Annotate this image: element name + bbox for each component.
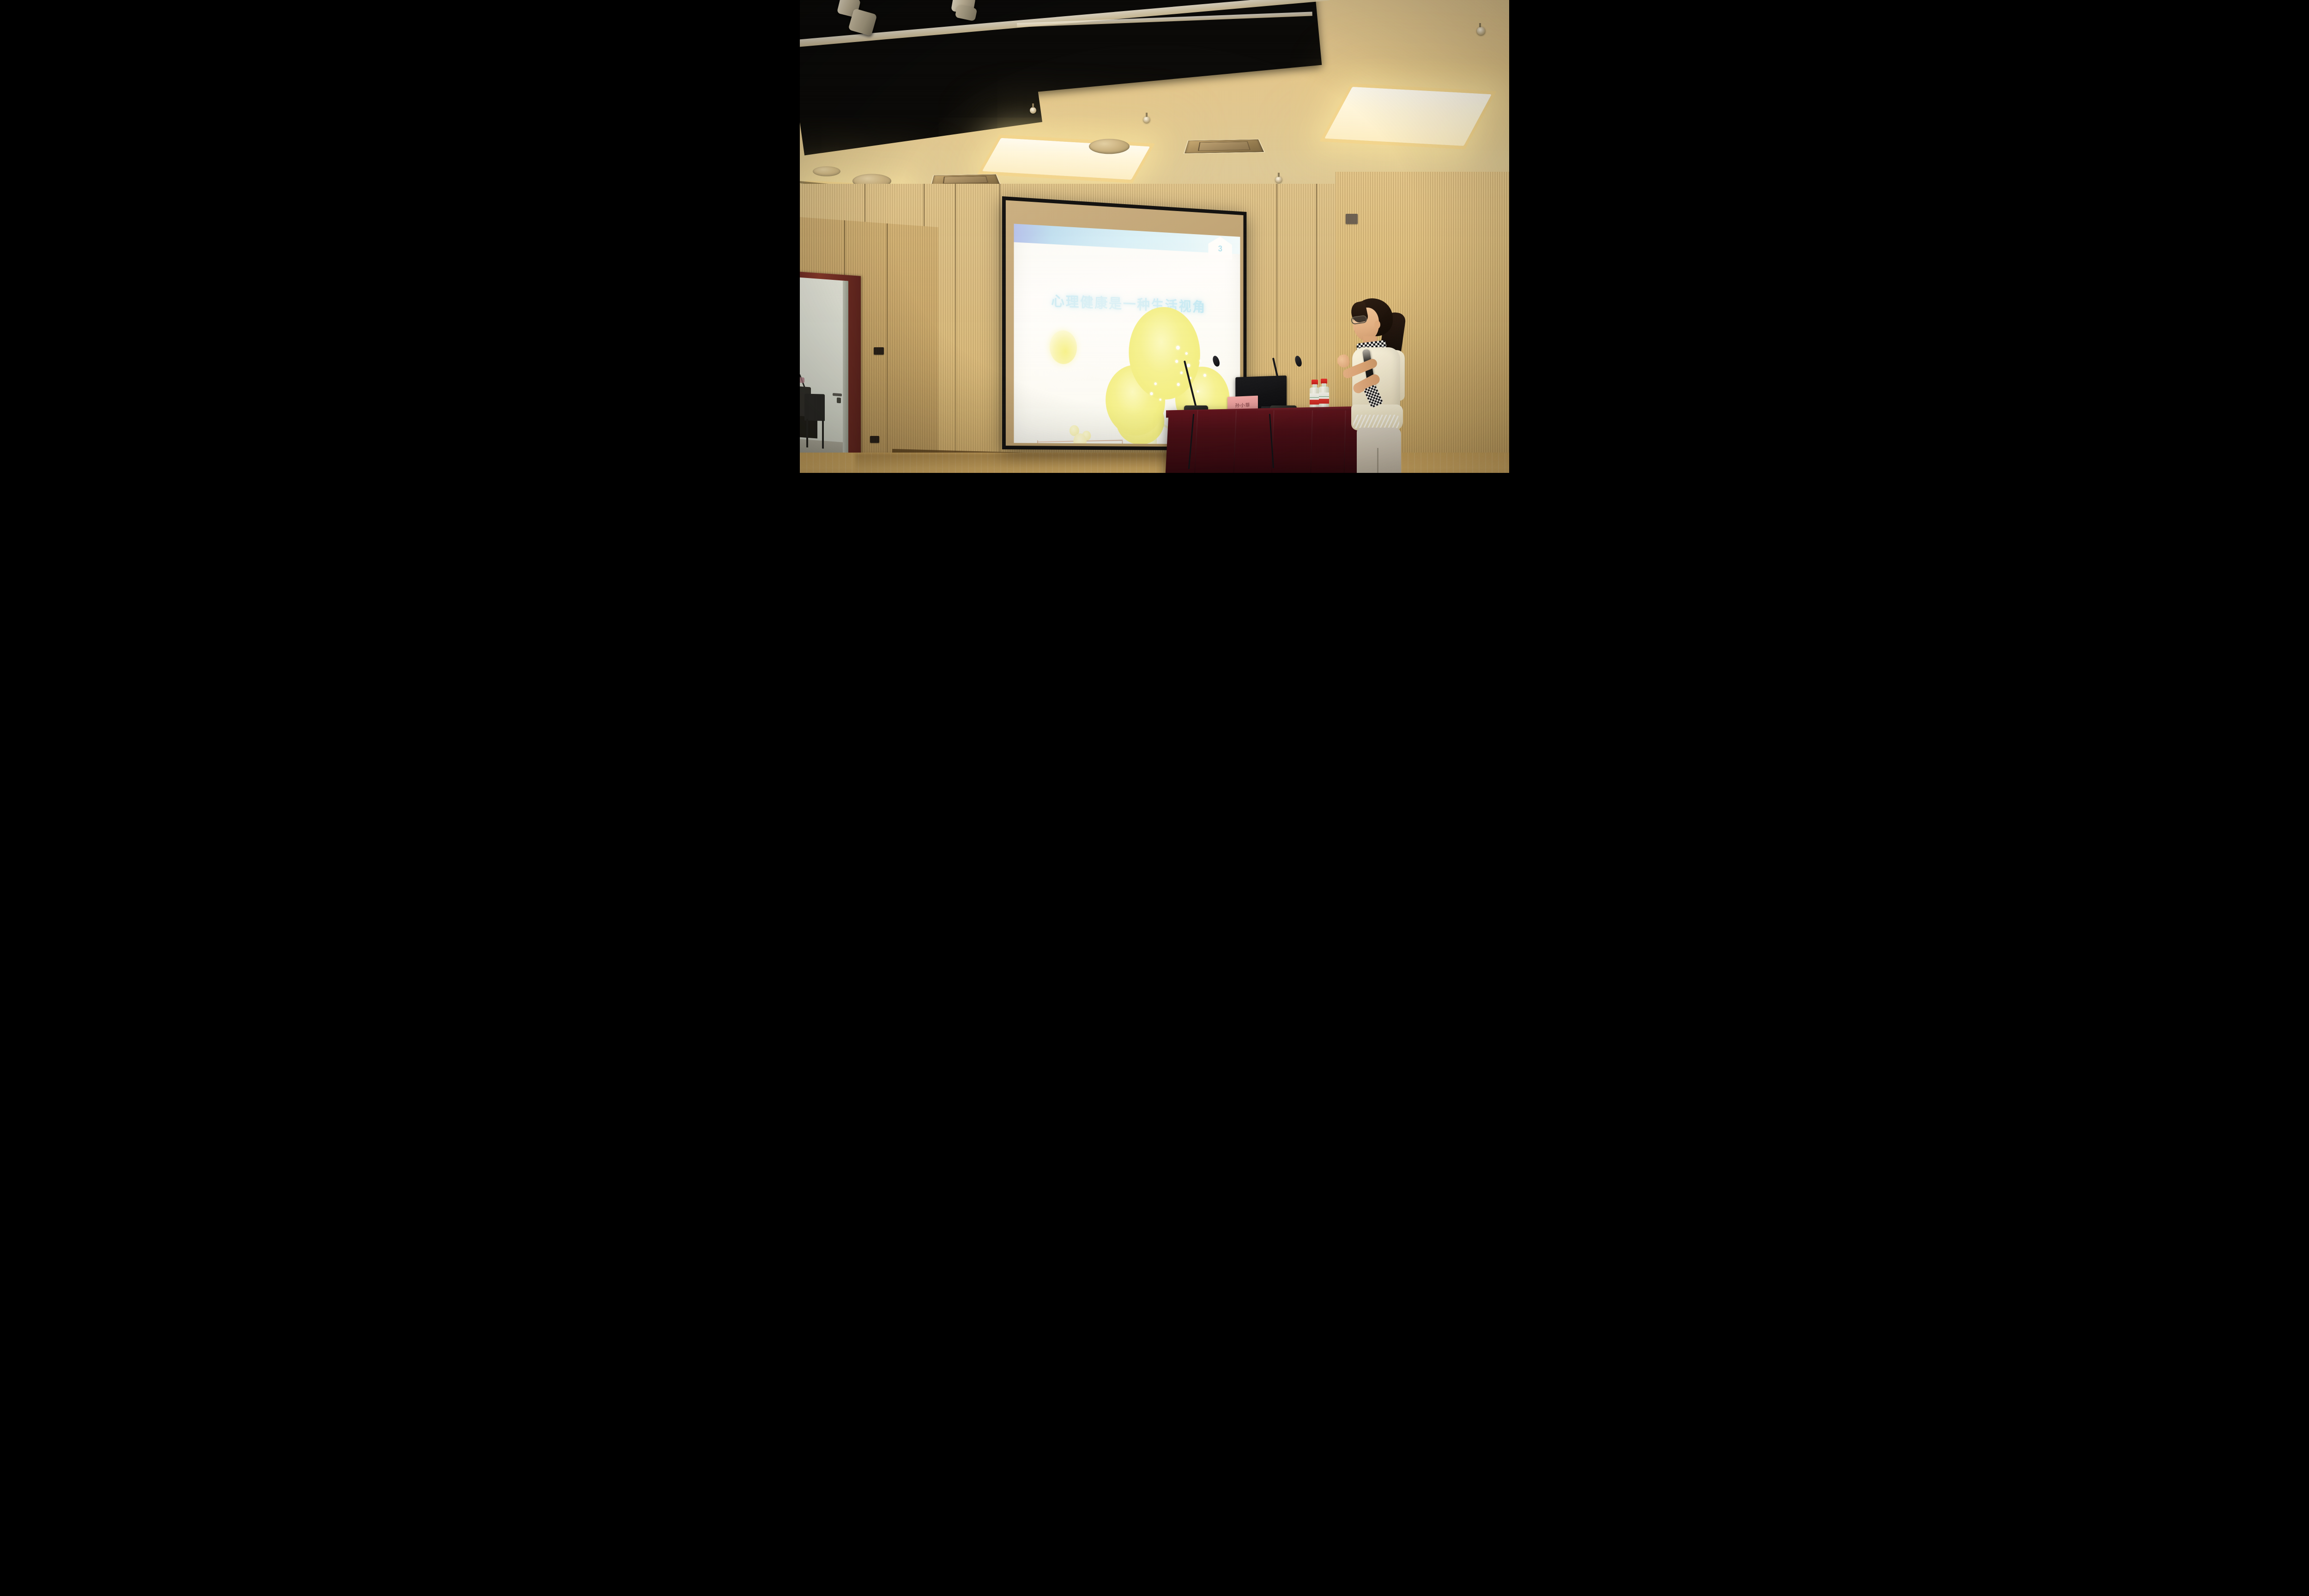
- sun-icon: [1050, 330, 1077, 364]
- ceiling-speaker-icon: [813, 166, 840, 176]
- presenter-trouser-seam: [1377, 448, 1378, 473]
- lecture-hall-photo: 3 心理健康是一种生活视角: [800, 0, 1509, 473]
- door-handle[interactable]: [833, 393, 842, 396]
- slide-title: 心理健康是一种生活视角: [1014, 288, 1240, 317]
- door-jamb: [843, 281, 848, 473]
- presentation-desk: [1165, 411, 1366, 473]
- name-card-text: 孙小菲: [1235, 401, 1251, 408]
- presenter-trousers: [1357, 428, 1401, 473]
- floor-reflection: [855, 453, 1206, 473]
- open-doorway[interactable]: [800, 277, 848, 473]
- wall-outlet: [870, 436, 879, 443]
- slide-number-text: 3: [1218, 244, 1222, 260]
- bottle-label: [1319, 393, 1329, 404]
- sprinkler-head-icon: [1143, 116, 1150, 123]
- chair-leg: [822, 420, 824, 448]
- chair: [804, 394, 825, 421]
- presenter: [1345, 296, 1428, 473]
- ceiling-panel-light: [1324, 87, 1492, 146]
- chair-leg: [806, 419, 808, 447]
- wall-fixture: [1346, 214, 1358, 224]
- ceiling-speaker-icon: [1089, 139, 1130, 154]
- presenter-ear: [1374, 320, 1380, 329]
- girl-on-bench-illustration: [1069, 423, 1094, 445]
- adjacent-room-object: [800, 377, 804, 383]
- hvac-diffuser-vent: [1184, 139, 1265, 154]
- bottle-label: [1310, 393, 1320, 405]
- presenter-lace-trim: [1353, 415, 1399, 429]
- sprinkler-head-icon: [1030, 107, 1036, 114]
- wall-outlet: [874, 347, 884, 355]
- sprinkler-head-icon: [1477, 27, 1485, 35]
- door-latch[interactable]: [837, 398, 841, 404]
- sprinkler-head-icon: [1275, 176, 1282, 183]
